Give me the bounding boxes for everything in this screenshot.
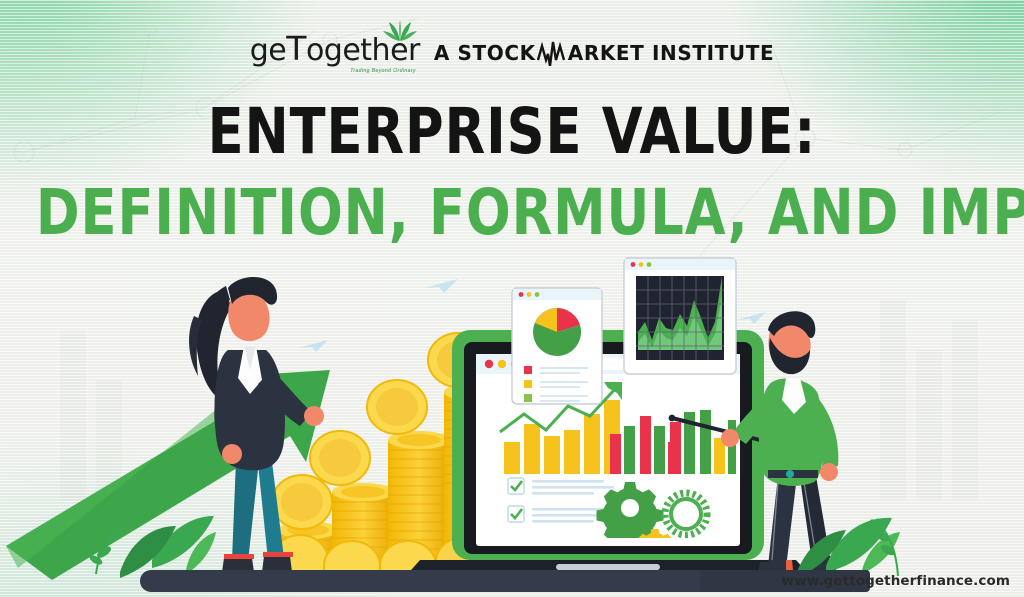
institute-text-post: ARKET INSTITUTE <box>568 41 775 65</box>
laptop <box>404 330 812 582</box>
browser-dot-yellow <box>498 360 506 368</box>
poster-canvas: geTogether Trading Beyond Ordinary A STO… <box>0 0 1024 597</box>
institute-text-pre: A STOCK <box>434 41 536 65</box>
pie-chart-card <box>512 288 602 404</box>
gettogether-logo: geTogether Trading Beyond Ordinary <box>250 32 420 74</box>
hero-illustration <box>0 230 1024 597</box>
logo-tagline: Trading Beyond Ordinary <box>350 68 416 74</box>
title-block: ENTERPRISE VALUE: DEFINITION, FORMULA, A… <box>0 100 1024 244</box>
institute-tagline: A STOCK ARKET INSTITUTE <box>434 40 774 66</box>
browser-dot-red <box>485 360 493 368</box>
logo-word-pre: ge <box>250 33 287 68</box>
page-title-line-2: DEFINITION, FORMULA, AND IMPORTANCE <box>36 181 988 244</box>
monitor-area-chart <box>636 276 724 360</box>
area-chart-card <box>624 258 736 374</box>
page-title-line-1: ENTERPRISE VALUE: <box>36 100 988 163</box>
sprout-leaf-icon <box>378 19 422 41</box>
brand-header: geTogether Trading Beyond Ordinary A STO… <box>0 30 1024 76</box>
logo-word-t: T <box>286 29 306 68</box>
pulse-line-icon <box>537 40 567 66</box>
card-pie-chart <box>533 308 581 356</box>
website-url[interactable]: www.gettogetherfinance.com <box>782 573 1010 589</box>
floor-platform-left <box>140 570 780 592</box>
